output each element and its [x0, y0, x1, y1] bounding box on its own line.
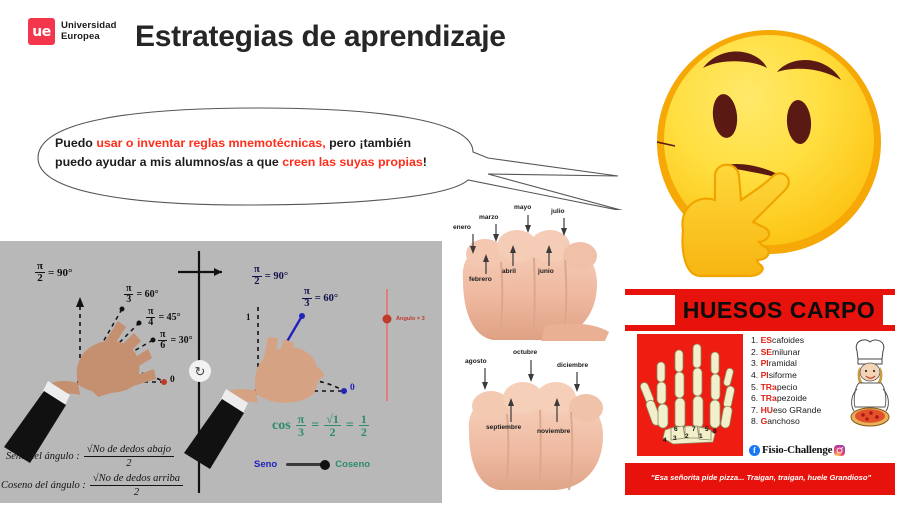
- month-label-diciembre: diciembre: [557, 362, 588, 369]
- carpo-rest-0: cafoides: [772, 335, 804, 345]
- right-zero-label: 0: [350, 383, 355, 393]
- list-item: 6. TRapezoide: [751, 393, 847, 405]
- list-item: 7. HUeso GRande: [751, 405, 847, 417]
- carpo-n-4: 5.: [751, 382, 758, 392]
- carpal-num-7: 5: [705, 426, 709, 433]
- left-a1-deg: = 60°: [136, 289, 158, 300]
- left-a0-den: 2: [35, 273, 45, 284]
- carpo-pre-1: SE: [761, 347, 772, 357]
- cos-arg-den: 3: [296, 426, 307, 438]
- carpal-num-8: 8: [713, 428, 717, 435]
- angle-slider-label: Ángulo = 3: [396, 316, 425, 322]
- right-a1-deg: = 60°: [315, 293, 338, 304]
- toggle-knob[interactable]: [320, 460, 330, 470]
- page-title: Estrategias de aprendizaje: [135, 20, 506, 54]
- month-label-marzo: marzo: [479, 214, 498, 221]
- bubble-l2-a: puedo ayudar a mis alumnos/as a que: [55, 155, 282, 169]
- cosine-formula-label: Coseno del ángulo :: [1, 480, 86, 491]
- month-label-abril: abril: [502, 268, 516, 275]
- left-a2-den: 4: [146, 318, 155, 328]
- social-brand-row: f Fisio-Challenge: [749, 444, 845, 456]
- carpal-num-3: 6: [674, 426, 678, 433]
- toggle-track[interactable]: [286, 463, 326, 466]
- fist-months-second-half: agosto octubre diciembre septiembre novi…: [447, 340, 627, 490]
- bubble-line-1: Puedo usar o inventar reglas mnemotécnic…: [55, 134, 455, 153]
- carpo-bone-list: 1. EScafoides 2. SEmilunar 3. PIramidal …: [751, 335, 847, 428]
- angle-slider: [383, 289, 392, 401]
- cos-result-equation: cos π3 = √12 = 12: [272, 413, 369, 438]
- carpal-num-6: 1: [699, 433, 703, 440]
- speech-bubble-text: Puedo usar o inventar reglas mnemotécnic…: [55, 134, 455, 172]
- bubble-l2-highlight: creen las suyas propias: [282, 155, 423, 169]
- left-a1-den: 3: [124, 295, 133, 305]
- left-angle-label-3: π6 = 30°: [158, 330, 193, 351]
- bubble-l2-c: !: [423, 155, 427, 169]
- carpo-rest-7: anchoso: [767, 416, 800, 426]
- right-angle-label-1: π3 = 60°: [302, 287, 338, 309]
- carpo-rest-2: ramidal: [769, 358, 797, 368]
- left-a2-deg: = 45°: [158, 312, 180, 323]
- carpo-body: 4 3 6 2 7 1 5 8 1. EScafoides 2. SEmilun…: [625, 331, 897, 463]
- left-hand-diagram: [4, 297, 167, 463]
- left-angle-label-0: π2 = 90°: [35, 261, 72, 284]
- sine-formula-den: 2: [84, 457, 174, 469]
- bubble-l1-a: Puedo: [55, 136, 96, 150]
- carpo-n-3: 4.: [751, 370, 758, 380]
- month-label-junio: junio: [538, 268, 554, 275]
- carpo-rest-4: pecio: [777, 382, 798, 392]
- toggle-label-coseno: Coseno: [335, 459, 370, 470]
- cosine-formula-den: 2: [90, 486, 183, 498]
- list-item: 5. TRapecio: [751, 382, 847, 394]
- sine-formula-label: Seno del ángulo :: [6, 451, 80, 462]
- cosine-formula-num: √No de dedos arriba: [90, 473, 183, 486]
- cos-f1-den: 2: [324, 426, 341, 438]
- carpal-num-4: 2: [685, 433, 689, 440]
- carpo-title: HUESOS CARPO: [683, 297, 876, 324]
- facebook-icon[interactable]: f: [749, 445, 760, 456]
- bubble-line-2: puedo ayudar a mis alumnos/as a que cree…: [55, 153, 455, 172]
- carpo-n-1: 2.: [751, 347, 758, 357]
- logo-line-1: Universidad: [61, 21, 116, 32]
- right-a1-num: π: [302, 287, 312, 299]
- list-item: 1. EScafoides: [751, 335, 847, 347]
- fist-months-first-half: enero marzo mayo julio febrero abril jun…: [445, 196, 625, 341]
- carpal-num-2: 3: [673, 435, 677, 442]
- carpo-pre-2: PI: [761, 358, 769, 368]
- carpo-pre-4: TRa: [761, 382, 777, 392]
- university-logo: ue Universidad Europea: [28, 18, 116, 45]
- instagram-icon[interactable]: [834, 445, 845, 456]
- logo-line-2: Europea: [61, 32, 116, 43]
- left-a3-deg: = 30°: [170, 335, 192, 346]
- carpo-rest-3: siforme: [769, 370, 797, 380]
- brand-name: Fisio-Challenge: [762, 444, 832, 456]
- month-label-agosto: agosto: [465, 358, 487, 365]
- left-zero-label: 0: [170, 375, 175, 385]
- carpo-rest-5: pezoide: [777, 393, 807, 403]
- right-a0-deg: = 90°: [265, 271, 288, 282]
- list-item: 4. PIsiforme: [751, 370, 847, 382]
- month-label-julio: julio: [551, 208, 565, 215]
- carpo-mnemonic-caption: "Esa señorita pide pizza... Traigan, tra…: [625, 465, 897, 490]
- month-label-mayo: mayo: [514, 204, 531, 211]
- bubble-l1-highlight: usar o inventar reglas mnemotécnicas,: [96, 136, 325, 150]
- carpo-n-0: 1.: [751, 335, 758, 345]
- left-a0-deg: = 90°: [48, 267, 72, 279]
- cosine-formula: Coseno del ángulo : √No de dedos arriba2: [1, 473, 183, 498]
- sine-formula: Seno del ángulo : √No de dedos abajo2: [6, 444, 174, 469]
- thinking-face-emoji: [641, 24, 897, 286]
- toggle-label-seno: Seno: [254, 459, 277, 470]
- list-item: 8. Ganchoso: [751, 416, 847, 428]
- trig-hand-panel: π2 = 90° π3 = 60° π4 = 45° π6 = 30° 0 π2…: [0, 241, 442, 503]
- right-hand-diagram: [184, 305, 347, 469]
- hand-skeleton-icon: 4 3 6 2 7 1 5 8: [637, 334, 743, 456]
- carpo-n-2: 3.: [751, 358, 758, 368]
- carpo-rest-1: milunar: [772, 347, 800, 357]
- month-label-febrero: febrero: [469, 276, 492, 283]
- slide-canvas: ue Universidad Europea Estrategias de ap…: [0, 0, 900, 506]
- carpo-hand-illustration: 4 3 6 2 7 1 5 8: [637, 334, 743, 456]
- fist-top-graphic: [445, 196, 625, 341]
- month-label-octubre: octubre: [513, 349, 537, 356]
- carpal-num-1: 4: [663, 437, 667, 444]
- sine-formula-num: √No de dedos abajo: [84, 444, 174, 457]
- month-label-septiembre: septiembre: [486, 424, 521, 431]
- bubble-l1-c: pero ¡también: [326, 136, 411, 150]
- chef-with-pizza-illustration: [847, 337, 893, 437]
- cos-prefix: cos: [272, 418, 291, 434]
- carpo-n-7: 8.: [751, 416, 758, 426]
- logo-mark-icon: ue: [28, 18, 55, 45]
- carpo-pre-3: PI: [761, 370, 769, 380]
- month-label-noviembre: noviembre: [537, 428, 570, 435]
- left-a3-den: 6: [158, 341, 167, 351]
- cos-eq-2: =: [346, 418, 354, 434]
- carpal-num-5: 7: [692, 426, 696, 433]
- list-item: 2. SEmilunar: [751, 347, 847, 359]
- right-a0-num: π: [252, 265, 262, 277]
- cos-eq-1: =: [311, 418, 319, 434]
- month-label-enero: enero: [453, 224, 471, 231]
- carpo-rest-6: eso GRande: [773, 405, 821, 415]
- carpo-title-bar: HUESOS CARPO: [675, 295, 883, 325]
- cos-f2-den: 2: [359, 426, 369, 438]
- left-angle-label-2: π4 = 45°: [146, 307, 181, 328]
- carpo-n-5: 6.: [751, 393, 758, 403]
- logo-text: Universidad Europea: [61, 21, 116, 42]
- huesos-carpo-card: HUESOS CARPO: [624, 288, 896, 496]
- right-a0-den: 2: [252, 277, 262, 288]
- right-angle-label-0: π2 = 90°: [252, 265, 288, 287]
- list-item: 3. PIramidal: [751, 358, 847, 370]
- refresh-icon[interactable]: ↻: [189, 360, 211, 382]
- right-a1-den: 3: [302, 299, 312, 310]
- right-one-label: 1: [246, 312, 251, 322]
- carpo-pre-6: HU: [761, 405, 773, 415]
- carpo-pre-5: TRa: [761, 393, 777, 403]
- carpo-n-6: 7.: [751, 405, 758, 415]
- seno-coseno-toggle[interactable]: Seno Coseno: [254, 459, 370, 470]
- carpo-pre-0: ES: [761, 335, 772, 345]
- left-angle-label-1: π3 = 60°: [124, 284, 159, 305]
